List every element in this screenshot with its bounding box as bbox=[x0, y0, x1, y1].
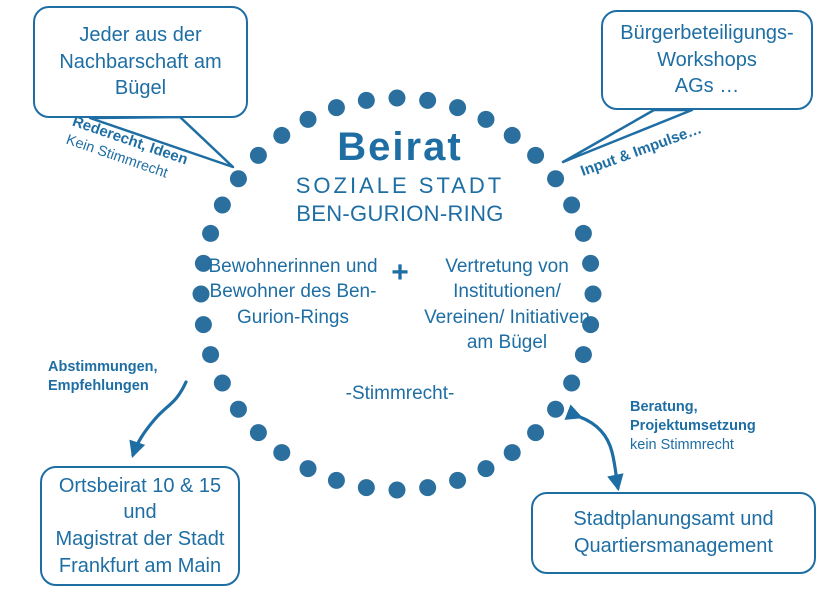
ring-dot bbox=[328, 472, 345, 489]
ring-dot bbox=[419, 92, 436, 109]
label-beratung-line2: Projektumsetzung bbox=[630, 417, 756, 436]
label-beratung-line1: Beratung, bbox=[630, 398, 756, 417]
ring-dot bbox=[504, 444, 521, 461]
bubble-ortsbeirat-line: Ortsbeirat 10 & 15 bbox=[56, 473, 225, 500]
bubble-ortsbeirat-line: und bbox=[56, 499, 225, 526]
subtitle-ben-gurion-ring: BEN-GURION-RING bbox=[200, 201, 600, 227]
column-institutions-line: Initiativen bbox=[510, 307, 590, 328]
page-title: Beirat bbox=[200, 126, 600, 168]
ring-dot bbox=[273, 444, 290, 461]
label-abstimmungen: Abstimmungen, Empfehlungen bbox=[48, 358, 158, 396]
bubble-participation-line: Bürgerbeteiligungs- bbox=[620, 20, 793, 47]
ring-dot bbox=[358, 479, 375, 496]
ring-dot bbox=[449, 472, 466, 489]
voting-rights-note: -Stimmrecht- bbox=[200, 383, 600, 405]
label-abstimmungen-line1: Abstimmungen, bbox=[48, 358, 158, 377]
arrow-beratung bbox=[580, 417, 618, 488]
column-residents: Bewohnerinnen und Bewohner des Ben-Gurio… bbox=[207, 254, 379, 330]
label-beratung-line3: kein Stimmrecht bbox=[630, 436, 756, 455]
plus-icon: + bbox=[379, 254, 421, 288]
ring-dot bbox=[389, 482, 406, 499]
ring-dot bbox=[300, 460, 317, 477]
bubble-stadtplanung-line: Stadtplanungsamt und bbox=[573, 506, 773, 533]
bubble-participation-line: AGs … bbox=[620, 73, 793, 100]
bubble-neighborhood-line: Jeder aus der bbox=[59, 22, 221, 49]
bubble-ortsbeirat-line: Frankfurt am Main bbox=[56, 553, 225, 580]
ring-dot bbox=[449, 99, 466, 116]
bubble-ortsbeirat[interactable]: Ortsbeirat 10 & 15 und Magistrat der Sta… bbox=[40, 466, 240, 586]
column-residents-line: des bbox=[300, 281, 331, 302]
column-institutions-line: von bbox=[538, 256, 569, 277]
ring-dot bbox=[477, 460, 494, 477]
bubble-stadtplanung[interactable]: Stadtplanungsamt und Quartiersmanagement bbox=[531, 492, 816, 574]
membership-columns: Bewohnerinnen und Bewohner des Ben-Gurio… bbox=[200, 254, 600, 355]
bubble-neighborhood[interactable]: Jeder aus der Nachbarschaft am Bügel bbox=[33, 6, 248, 118]
bubble-neighborhood-line: Nachbarschaft am bbox=[59, 49, 221, 76]
label-rederecht: Rederecht, Ideen Kein Stimmrecht bbox=[64, 112, 191, 188]
column-institutions-line: Institutionen/ bbox=[453, 281, 561, 302]
bubble-ortsbeirat-line: Magistrat der Stadt bbox=[56, 526, 225, 553]
ring-dot bbox=[389, 90, 406, 107]
bubble-participation[interactable]: Bürgerbeteiligungs- Workshops AGs … bbox=[601, 10, 813, 110]
column-institutions-line: am Bügel bbox=[467, 332, 547, 353]
ring-dot bbox=[358, 92, 375, 109]
ring-dot bbox=[527, 424, 544, 441]
ring-dot bbox=[250, 424, 267, 441]
center-text-block: Beirat SOZIALE STADT BEN-GURION-RING Bew… bbox=[200, 126, 600, 405]
label-beratung: Beratung, Projektumsetzung kein Stimmrec… bbox=[630, 398, 756, 455]
bubble-neighborhood-line: Bügel bbox=[59, 75, 221, 102]
bubble-stadtplanung-line: Quartiersmanagement bbox=[573, 533, 773, 560]
diagram-canvas: Beirat SOZIALE STADT BEN-GURION-RING Bew… bbox=[0, 0, 820, 600]
column-institutions-line: Vereinen/ bbox=[424, 307, 504, 328]
column-institutions: Vertretung von Institutionen/ Vereinen/ … bbox=[421, 254, 593, 355]
ring-dot bbox=[419, 479, 436, 496]
label-abstimmungen-line2: Empfehlungen bbox=[48, 377, 158, 396]
ring-dot bbox=[328, 99, 345, 116]
subtitle-soziale-stadt: SOZIALE STADT bbox=[200, 173, 600, 199]
column-institutions-line: Vertretung bbox=[445, 256, 533, 277]
column-residents-line: Bewohnerinnen bbox=[208, 256, 340, 277]
bubble-participation-line: Workshops bbox=[620, 47, 793, 74]
